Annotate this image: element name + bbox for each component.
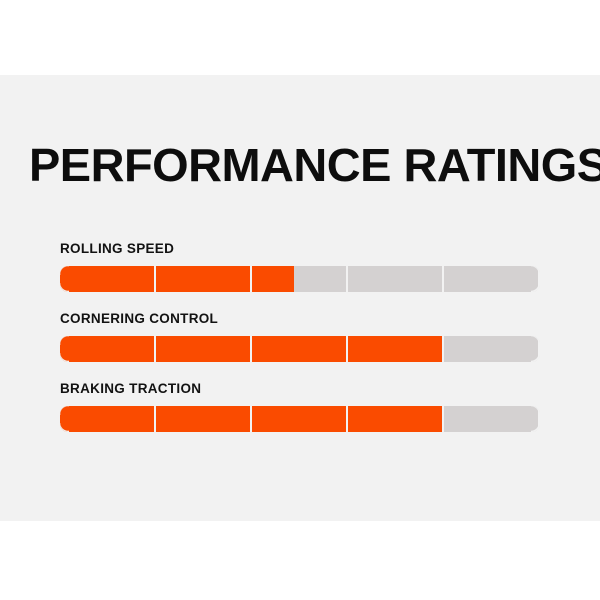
segment-fill <box>156 406 250 432</box>
rating-segment <box>60 266 156 292</box>
performance-ratings-card: PERFORMANCE RATINGS ROLLING SPEED CORNER… <box>0 0 600 600</box>
ratings-list: ROLLING SPEED CORNERING CONTROL <box>60 241 540 432</box>
rating-bar-braking-traction <box>60 406 540 432</box>
rating-segment <box>252 266 348 292</box>
segment-fill <box>156 336 250 362</box>
rating-segment <box>444 266 540 292</box>
rating-bar-cornering-control <box>60 336 540 362</box>
segment-fill <box>60 266 154 292</box>
rating-segment <box>252 406 348 432</box>
rating-label-rolling-speed: ROLLING SPEED <box>60 241 540 257</box>
rating-segment <box>348 336 444 362</box>
rating-label-cornering-control: CORNERING CONTROL <box>60 311 540 327</box>
rating-segment <box>60 336 156 362</box>
rating-segment <box>60 406 156 432</box>
rating-segment <box>156 406 252 432</box>
rating-segment <box>156 336 252 362</box>
page-title: PERFORMANCE RATINGS <box>29 140 600 190</box>
segment-fill <box>60 336 154 362</box>
segment-fill <box>156 266 250 292</box>
rating-bar-rolling-speed <box>60 266 540 292</box>
rating-segment <box>444 336 540 362</box>
segment-fill <box>252 406 346 432</box>
segment-fill <box>252 336 346 362</box>
segment-fill <box>348 336 442 362</box>
rating-row: CORNERING CONTROL <box>60 311 540 362</box>
segment-fill <box>60 406 154 432</box>
segment-fill <box>348 406 442 432</box>
rating-label-braking-traction: BRAKING TRACTION <box>60 381 540 397</box>
rating-segment <box>348 406 444 432</box>
rating-row: BRAKING TRACTION <box>60 381 540 432</box>
rating-segment <box>252 336 348 362</box>
rating-row: ROLLING SPEED <box>60 241 540 292</box>
rating-segment <box>156 266 252 292</box>
segment-fill <box>252 266 294 292</box>
rating-segment <box>444 406 540 432</box>
rating-segment <box>348 266 444 292</box>
